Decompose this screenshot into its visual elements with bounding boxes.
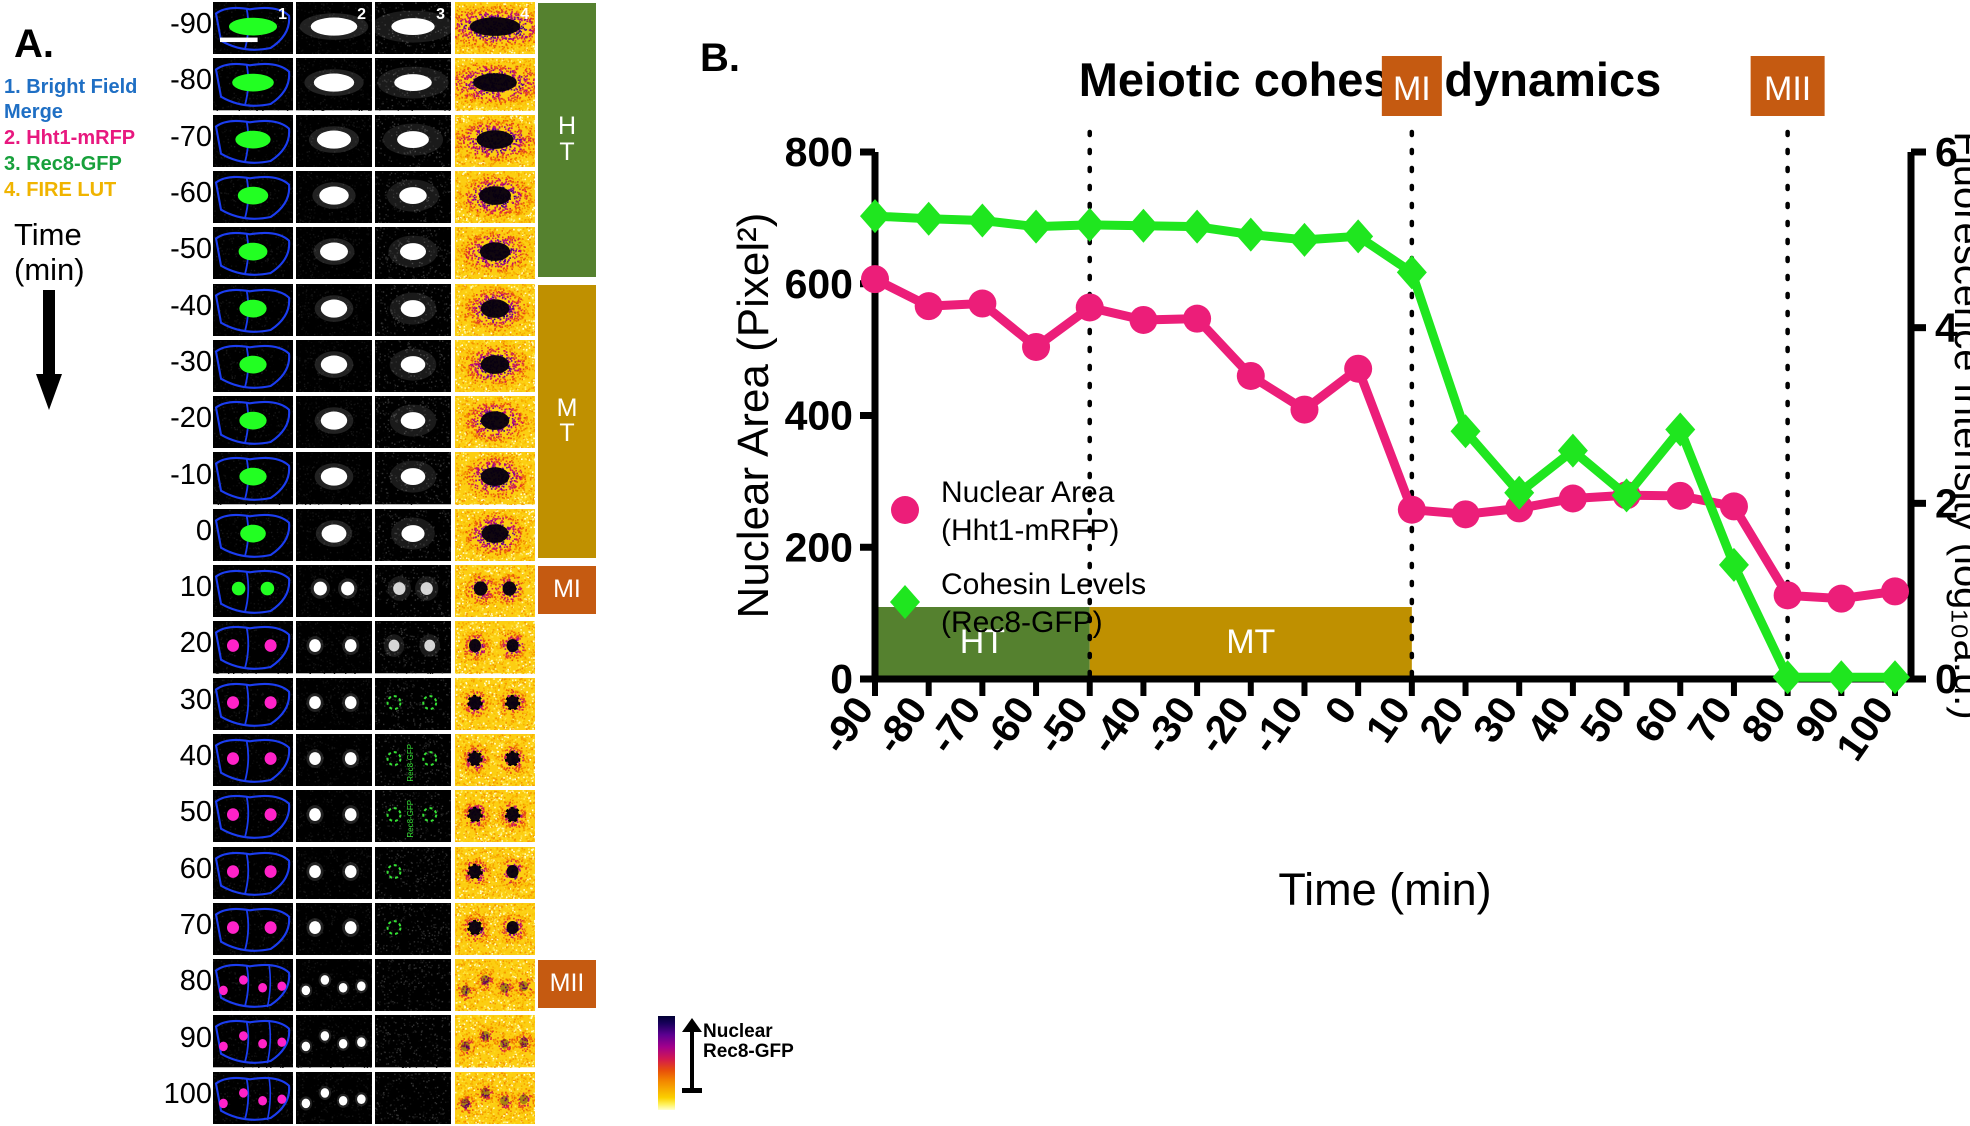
micrograph-cell bbox=[375, 621, 451, 673]
chart-x-ticklabel: 80 bbox=[1733, 689, 1795, 751]
chart-datapoint bbox=[1880, 660, 1910, 694]
chart-datapoint bbox=[1720, 492, 1748, 520]
micrograph-cell bbox=[213, 115, 293, 167]
time-direction-arrow-icon bbox=[36, 290, 62, 410]
micrograph-cell bbox=[213, 621, 293, 673]
stage-bar-label: T bbox=[559, 140, 574, 166]
fire-lut-colorbar bbox=[658, 1016, 675, 1110]
chart-x-ticklabel: -90 bbox=[813, 689, 882, 762]
chart-legend-swatch bbox=[891, 496, 919, 524]
timepoint-label: 50 bbox=[150, 796, 212, 829]
micrograph-cell bbox=[455, 509, 535, 561]
micrograph-cell bbox=[296, 734, 372, 786]
chart-datapoint bbox=[1128, 209, 1158, 243]
micrograph-cell bbox=[296, 227, 372, 279]
chart-datapoint bbox=[1182, 210, 1212, 244]
chart-x-ticklabel: 60 bbox=[1626, 689, 1688, 751]
chart-legend-sublabel: (Hht1-mRFP) bbox=[941, 514, 1119, 547]
channel-legend-bright-field: 1. Bright Field bbox=[4, 76, 137, 99]
micrograph-cell bbox=[213, 227, 293, 279]
micrograph-cell bbox=[455, 847, 535, 899]
chart-datapoint bbox=[915, 292, 943, 320]
timepoint-label: -30 bbox=[150, 346, 212, 379]
channel-legend-hht1-mrfp: 2. Hht1-mRFP bbox=[4, 127, 135, 150]
micrograph-cell bbox=[296, 509, 372, 561]
timepoint-label: 30 bbox=[150, 684, 212, 717]
stage-bar-label: MI bbox=[553, 577, 581, 603]
timepoint-label: 100 bbox=[150, 1078, 212, 1111]
meiotic-cohesin-dynamics-chart: HTMTMIMII02004006008000246-90-80-70-60-5… bbox=[690, 0, 1970, 1126]
timepoint-label: -50 bbox=[150, 233, 212, 266]
chart-datapoint bbox=[1290, 396, 1318, 424]
micrograph-cell bbox=[455, 621, 535, 673]
micrograph-cell bbox=[213, 847, 293, 899]
micrograph-cell bbox=[296, 678, 372, 730]
micrograph-cell bbox=[455, 1072, 535, 1124]
chart-legend-label: Cohesin Levels bbox=[941, 568, 1146, 601]
micrograph-cell bbox=[455, 565, 535, 617]
chart-marker-badge-label: MII bbox=[1764, 70, 1811, 108]
micrograph-cell bbox=[213, 452, 293, 504]
chart-datapoint bbox=[1452, 500, 1480, 528]
chart-y-ticklabel-left: 800 bbox=[785, 129, 853, 175]
micrograph-cell bbox=[213, 284, 293, 336]
timepoint-label: 0 bbox=[150, 515, 212, 548]
chart-datapoint bbox=[1129, 306, 1157, 334]
micrograph-cell bbox=[296, 959, 372, 1011]
micrograph-cell bbox=[455, 171, 535, 223]
micrograph-cell bbox=[455, 734, 535, 786]
micrograph-cell bbox=[455, 959, 535, 1011]
panel-b: B. Meiotic cohesin dynamics HTMTMIMII020… bbox=[690, 0, 1970, 1126]
svg-text:3: 3 bbox=[436, 6, 445, 23]
svg-text:4: 4 bbox=[520, 6, 529, 23]
chart-x-ticklabel: -10 bbox=[1243, 689, 1312, 762]
channel-legend-merge: Merge bbox=[4, 101, 63, 124]
chart-datapoint bbox=[1827, 585, 1855, 613]
timepoint-label: -90 bbox=[150, 8, 212, 41]
micrograph-cell bbox=[296, 621, 372, 673]
chart-ylabel-left: Nuclear Area (Pixel²) bbox=[729, 213, 778, 619]
micrograph-cell bbox=[296, 340, 372, 392]
chart-datapoint bbox=[1236, 218, 1266, 252]
timepoint-label: -40 bbox=[150, 290, 212, 323]
micrograph-cell bbox=[455, 1015, 535, 1067]
micrograph-cell bbox=[375, 959, 451, 1011]
chart-datapoint bbox=[1075, 208, 1105, 242]
channel-legend-fire-lut: 4. FIRE LUT bbox=[4, 179, 116, 202]
chart-ylabel-right: Fluorescence Intensity (log₁₀a.u.) bbox=[1946, 131, 1970, 719]
micrograph-cell bbox=[455, 903, 535, 955]
micrograph-cell bbox=[375, 340, 451, 392]
micrograph-cell bbox=[213, 903, 293, 955]
micrograph-cell bbox=[213, 959, 293, 1011]
micrograph-cell bbox=[455, 790, 535, 842]
micrograph-cell: 3 bbox=[375, 2, 451, 54]
micrograph-cell bbox=[296, 171, 372, 223]
micrograph-cell: 4 bbox=[455, 2, 535, 54]
timepoint-label: 10 bbox=[150, 571, 212, 604]
chart-datapoint bbox=[914, 202, 944, 236]
micrograph-cell bbox=[375, 565, 451, 617]
timepoint-label: 40 bbox=[150, 740, 212, 773]
time-axis-label-main: Time bbox=[14, 218, 85, 253]
micrograph-cell bbox=[375, 903, 451, 955]
micrograph-cell bbox=[213, 734, 293, 786]
chart-x-ticklabel: 20 bbox=[1411, 689, 1473, 751]
chart-datapoint bbox=[1826, 660, 1856, 694]
micrograph-cell bbox=[375, 396, 451, 448]
micrograph-cell bbox=[455, 396, 535, 448]
micrograph-cell bbox=[296, 903, 372, 955]
chart-datapoint bbox=[1666, 482, 1694, 510]
chart-datapoint bbox=[1076, 293, 1104, 321]
chart-x-ticklabel: 100 bbox=[1828, 689, 1902, 769]
micrograph-cell bbox=[455, 58, 535, 110]
micrograph-cell bbox=[213, 790, 293, 842]
micrograph-cell bbox=[375, 452, 451, 504]
chart-x-ticklabel: 30 bbox=[1465, 689, 1527, 751]
micrograph-cell bbox=[455, 678, 535, 730]
micrograph-cell bbox=[375, 1072, 451, 1124]
chart-series-line-nuclear-area bbox=[875, 279, 1895, 598]
chart-datapoint bbox=[1289, 223, 1319, 257]
timepoint-label: -10 bbox=[150, 459, 212, 492]
micrograph-cell bbox=[296, 58, 372, 110]
chart-xlabel: Time (min) bbox=[1278, 864, 1491, 915]
time-axis-label-units: (min) bbox=[14, 253, 85, 288]
micrograph-cell: 1 bbox=[213, 2, 293, 54]
chart-datapoint bbox=[861, 265, 889, 293]
stage-bar-label: MII bbox=[550, 971, 585, 997]
micrograph-cell bbox=[213, 678, 293, 730]
chart-datapoint bbox=[968, 290, 996, 318]
micrograph-cell: Rec8-GFP bbox=[375, 790, 451, 842]
chart-x-ticklabel: 70 bbox=[1680, 689, 1742, 751]
chart-y-ticklabel-left: 600 bbox=[785, 261, 853, 307]
chart-datapoint bbox=[1559, 485, 1587, 513]
chart-stage-span-label: MT bbox=[1226, 623, 1275, 661]
micrograph-cell bbox=[213, 171, 293, 223]
chart-x-ticklabel: -60 bbox=[974, 689, 1043, 762]
chart-datapoint bbox=[967, 204, 997, 238]
channel-legend-rec8-gfp: 3. Rec8-GFP bbox=[4, 153, 122, 176]
micrograph-cell bbox=[296, 1015, 372, 1067]
chart-datapoint bbox=[1237, 362, 1265, 390]
micrograph-cell bbox=[375, 58, 451, 110]
micrograph-cell bbox=[213, 58, 293, 110]
panel-a-stage-bar-ht: HT bbox=[538, 3, 596, 277]
micrograph-cell bbox=[375, 284, 451, 336]
chart-x-ticklabel: -20 bbox=[1189, 689, 1258, 762]
micrograph-cell bbox=[375, 1015, 451, 1067]
micrograph-cell bbox=[455, 284, 535, 336]
micrograph-cell: Rec8-GFP bbox=[375, 734, 451, 786]
micrograph-cell bbox=[375, 115, 451, 167]
micrograph-cell bbox=[296, 790, 372, 842]
timepoint-label: -20 bbox=[150, 402, 212, 435]
micrograph-cell bbox=[375, 847, 451, 899]
micrograph-cell bbox=[296, 565, 372, 617]
panel-a: A. 1. Bright Field Merge 2. Hht1-mRFP 3.… bbox=[0, 0, 700, 1126]
chart-y-ticklabel-left: 400 bbox=[785, 393, 853, 439]
timepoint-label: 70 bbox=[150, 909, 212, 942]
micrograph-cell bbox=[455, 227, 535, 279]
chart-datapoint bbox=[1398, 496, 1426, 524]
micrograph-cell bbox=[213, 1015, 293, 1067]
chart-x-ticklabel: 10 bbox=[1358, 689, 1420, 751]
micrograph-cell bbox=[375, 509, 451, 561]
chart-datapoint bbox=[1021, 210, 1051, 244]
micrograph-cell bbox=[375, 678, 451, 730]
timepoint-label: 90 bbox=[150, 1022, 212, 1055]
micrograph-cell bbox=[455, 115, 535, 167]
panel-a-stage-bar-mi: MI bbox=[538, 566, 596, 614]
chart-legend-sublabel: (Rec8-GFP) bbox=[941, 606, 1103, 639]
micrograph-cell bbox=[375, 171, 451, 223]
chart-legend-label: Nuclear Area bbox=[941, 476, 1115, 509]
micrograph-cell bbox=[213, 509, 293, 561]
chart-y-ticklabel-left: 200 bbox=[785, 524, 853, 570]
panel-a-stage-bar-mt: MT bbox=[538, 285, 596, 559]
chart-x-ticklabel: -40 bbox=[1082, 689, 1151, 762]
micrograph-cell bbox=[375, 227, 451, 279]
chart-x-ticklabel: -30 bbox=[1135, 689, 1204, 762]
chart-datapoint bbox=[1183, 305, 1211, 333]
micrograph-cell bbox=[213, 1072, 293, 1124]
micrograph-cell bbox=[213, 340, 293, 392]
stage-bar-label: H bbox=[558, 114, 576, 140]
timepoint-label: -60 bbox=[150, 177, 212, 210]
micrograph-cell bbox=[296, 396, 372, 448]
stage-bar-label: T bbox=[559, 421, 574, 447]
micrograph-cell bbox=[455, 340, 535, 392]
svg-text:2: 2 bbox=[357, 6, 366, 23]
micrograph-cell bbox=[213, 396, 293, 448]
timepoint-label: -80 bbox=[150, 64, 212, 97]
chart-datapoint bbox=[1344, 355, 1372, 383]
micrograph-cell bbox=[296, 284, 372, 336]
chart-x-ticklabel: 40 bbox=[1519, 689, 1581, 751]
micrograph-cell bbox=[296, 1072, 372, 1124]
chart-datapoint bbox=[1774, 581, 1802, 609]
panel-a-stage-bar-mii: MII bbox=[538, 960, 596, 1008]
chart-datapoint bbox=[860, 199, 890, 233]
chart-datapoint bbox=[1022, 333, 1050, 361]
chart-x-ticklabel: -80 bbox=[867, 689, 936, 762]
svg-text:1: 1 bbox=[278, 6, 287, 23]
chart-x-ticklabel: -50 bbox=[1028, 689, 1097, 762]
micrograph-cell bbox=[296, 452, 372, 504]
micrograph-cell bbox=[296, 847, 372, 899]
micrograph-cell bbox=[296, 115, 372, 167]
timepoint-label: 60 bbox=[150, 853, 212, 886]
micrograph-cell bbox=[213, 565, 293, 617]
timepoint-label: 20 bbox=[150, 627, 212, 660]
chart-x-ticklabel: 50 bbox=[1572, 689, 1634, 751]
time-axis-label: Time (min) bbox=[14, 218, 85, 287]
chart-datapoint bbox=[1881, 577, 1909, 605]
timepoint-label: -70 bbox=[150, 121, 212, 154]
timepoint-label: 80 bbox=[150, 965, 212, 998]
chart-x-ticklabel: -70 bbox=[921, 689, 990, 762]
panel-a-letter: A. bbox=[14, 22, 54, 67]
chart-marker-badge-label: MI bbox=[1393, 70, 1431, 108]
stage-bar-label: M bbox=[557, 396, 578, 422]
micrograph-cell bbox=[455, 452, 535, 504]
micrograph-cell: 2 bbox=[296, 2, 372, 54]
